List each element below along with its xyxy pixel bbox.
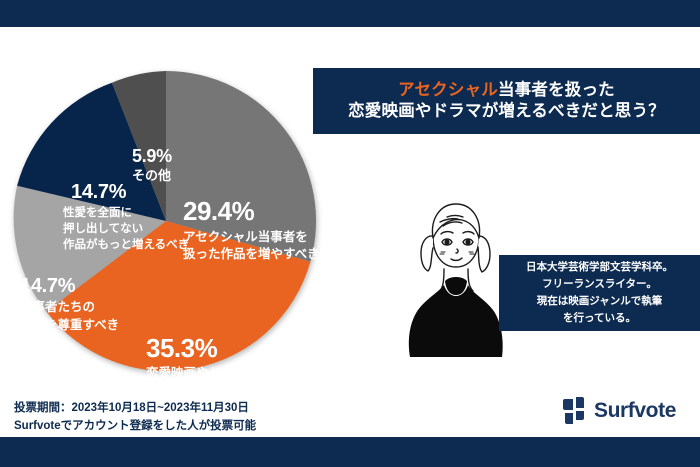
pie-label-text-line: 性愛を全面に — [63, 207, 132, 219]
pie-label-text: 当事者たちの 意見を尊重すべき — [20, 299, 160, 335]
infographic-canvas: アセクシャル当事者を扱った 恋愛映画やドラマが増えるべきだと思う？ 29.4% … — [0, 0, 700, 467]
pie-label-slice-4: 14.7% 性愛を全面に 押し出してない 作品がもっと増えるべき — [63, 181, 223, 253]
portrait-svg — [396, 195, 514, 371]
pie-label-percent: 14.7% — [20, 275, 160, 297]
pie-label-text: その他 — [132, 168, 212, 185]
pie-label-text-line: 押し出してない — [63, 223, 143, 235]
bio-line: フリーランスライター。 — [542, 276, 657, 293]
footnote-eligibility: Surfvoteでアカウント登録をした人が投票可能 — [14, 418, 256, 436]
pie-label-percent: 5.9% — [132, 147, 212, 167]
bio-line: 現在は映画ジャンルで執筆 — [537, 293, 662, 310]
top-accent-bar — [0, 0, 700, 27]
author-portrait-illustration — [396, 195, 514, 371]
headline-highlight: アセクシャル — [398, 81, 498, 99]
surfvote-wordmark: Surfvote — [594, 400, 676, 421]
bio-line: 日本大学芸術学部文芸学科卒。 — [526, 259, 673, 276]
headline-line-1: アセクシャル当事者を扱った — [398, 80, 615, 101]
pie-label-text-line: アセクシャル当事者を登場させ — [146, 383, 321, 397]
pie-chart: 29.4% アセクシャル当事者を 扱った作品を増やすべき 35.3% 恋愛映画や… — [8, 63, 324, 379]
footnote-period: 投票期間：2023年10月18日~2023年11月30日 — [14, 400, 256, 418]
surfvote-mark-svg — [562, 396, 587, 425]
pie-label-text-line: 恋愛映画やドラマという括りで — [146, 366, 321, 380]
pie-label-text-line: 作品がもっと増えるべき — [63, 239, 189, 251]
pie-label-text-line: 当事者たちの — [20, 300, 95, 314]
headline-line-2: 恋愛映画やドラマが増えるべきだと思う？ — [348, 101, 665, 122]
pie-label-text: 性愛を全面に 押し出してない 作品がもっと増えるべき — [63, 205, 223, 253]
pie-label-percent: 35.3% — [146, 335, 346, 363]
headline-rest: 当事者を扱った — [498, 81, 615, 99]
surfvote-mark-icon — [562, 396, 587, 425]
surfvote-logo: Surfvote — [562, 396, 676, 425]
pie-label-slice-5: 5.9% その他 — [132, 147, 212, 185]
bottom-accent-bar — [0, 437, 700, 467]
author-bio-box: 日本大学芸術学部文芸学科卒。 フリーランスライター。 現在は映画ジャンルで執筆 … — [499, 255, 700, 331]
headline-banner: アセクシャル当事者を扱った 恋愛映画やドラマが増えるべきだと思う？ — [313, 68, 700, 134]
pie-label-text-line: 意見を尊重すべき — [20, 318, 119, 332]
footnote: 投票期間：2023年10月18日~2023年11月30日 Surfvoteでアカ… — [14, 400, 256, 436]
pie-label-slice-3: 14.7% 当事者たちの 意見を尊重すべき — [20, 275, 160, 335]
bio-line: を行っている。 — [563, 310, 636, 327]
